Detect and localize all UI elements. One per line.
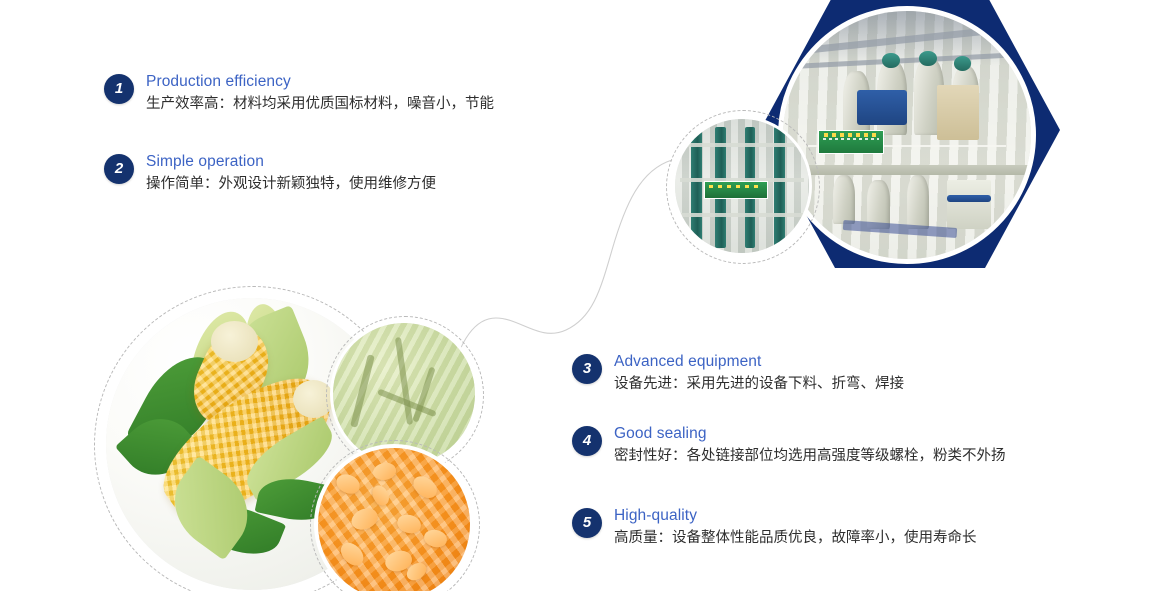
- feature-title-4: Good sealing: [614, 424, 1006, 443]
- feature-title-1: Production efficiency: [146, 72, 494, 91]
- milling-plant-teal-photo: [672, 116, 812, 256]
- feature-item-4: 4 Good sealing 密封性好：各处链接部位均选用高强度等级螺栓，粉类不…: [572, 424, 1006, 466]
- corn-grits-photo: [314, 444, 474, 591]
- feature-item-3: 3 Advanced equipment 设备先进：采用先进的设备下料、折弯、焊…: [572, 352, 904, 394]
- feature-text-4: Good sealing 密封性好：各处链接部位均选用高强度等级螺栓，粉类不外扬: [614, 424, 1006, 466]
- feature-text-2: Simple operation 操作简单：外观设计新颖独特，使用维修方便: [146, 152, 436, 194]
- feature-badge-1: 1: [104, 74, 134, 104]
- feature-desc-5: 高质量：设备整体性能品质优良，故障率小，使用寿命长: [614, 528, 977, 548]
- feature-badge-5: 5: [572, 508, 602, 538]
- feature-item-1: 1 Production efficiency 生产效率高：材料均采用优质国标材…: [104, 72, 494, 114]
- feature-item-5: 5 High-quality 高质量：设备整体性能品质优良，故障率小，使用寿命长: [572, 506, 977, 548]
- feature-item-2: 2 Simple operation 操作简单：外观设计新颖独特，使用维修方便: [104, 152, 436, 194]
- flour-milling-plant-photo: [778, 6, 1036, 264]
- feature-desc-4: 密封性好：各处链接部位均选用高强度等级螺栓，粉类不外扬: [614, 446, 1006, 466]
- feature-text-3: Advanced equipment 设备先进：采用先进的设备下料、折弯、焊接: [614, 352, 904, 394]
- feature-showcase-page: 1 Production efficiency 生产效率高：材料均采用优质国标材…: [0, 0, 1154, 591]
- feature-desc-1: 生产效率高：材料均采用优质国标材料，噪音小，节能: [146, 94, 494, 114]
- feature-badge-2: 2: [104, 154, 134, 184]
- feature-text-1: Production efficiency 生产效率高：材料均采用优质国标材料，…: [146, 72, 494, 114]
- feature-badge-4: 4: [572, 426, 602, 456]
- feature-desc-3: 设备先进：采用先进的设备下料、折弯、焊接: [614, 374, 904, 394]
- feature-badge-3: 3: [572, 354, 602, 384]
- feature-text-5: High-quality 高质量：设备整体性能品质优良，故障率小，使用寿命长: [614, 506, 977, 548]
- feature-title-2: Simple operation: [146, 152, 436, 171]
- feature-title-5: High-quality: [614, 506, 977, 525]
- feature-desc-2: 操作简单：外观设计新颖独特，使用维修方便: [146, 174, 436, 194]
- feature-title-3: Advanced equipment: [614, 352, 904, 371]
